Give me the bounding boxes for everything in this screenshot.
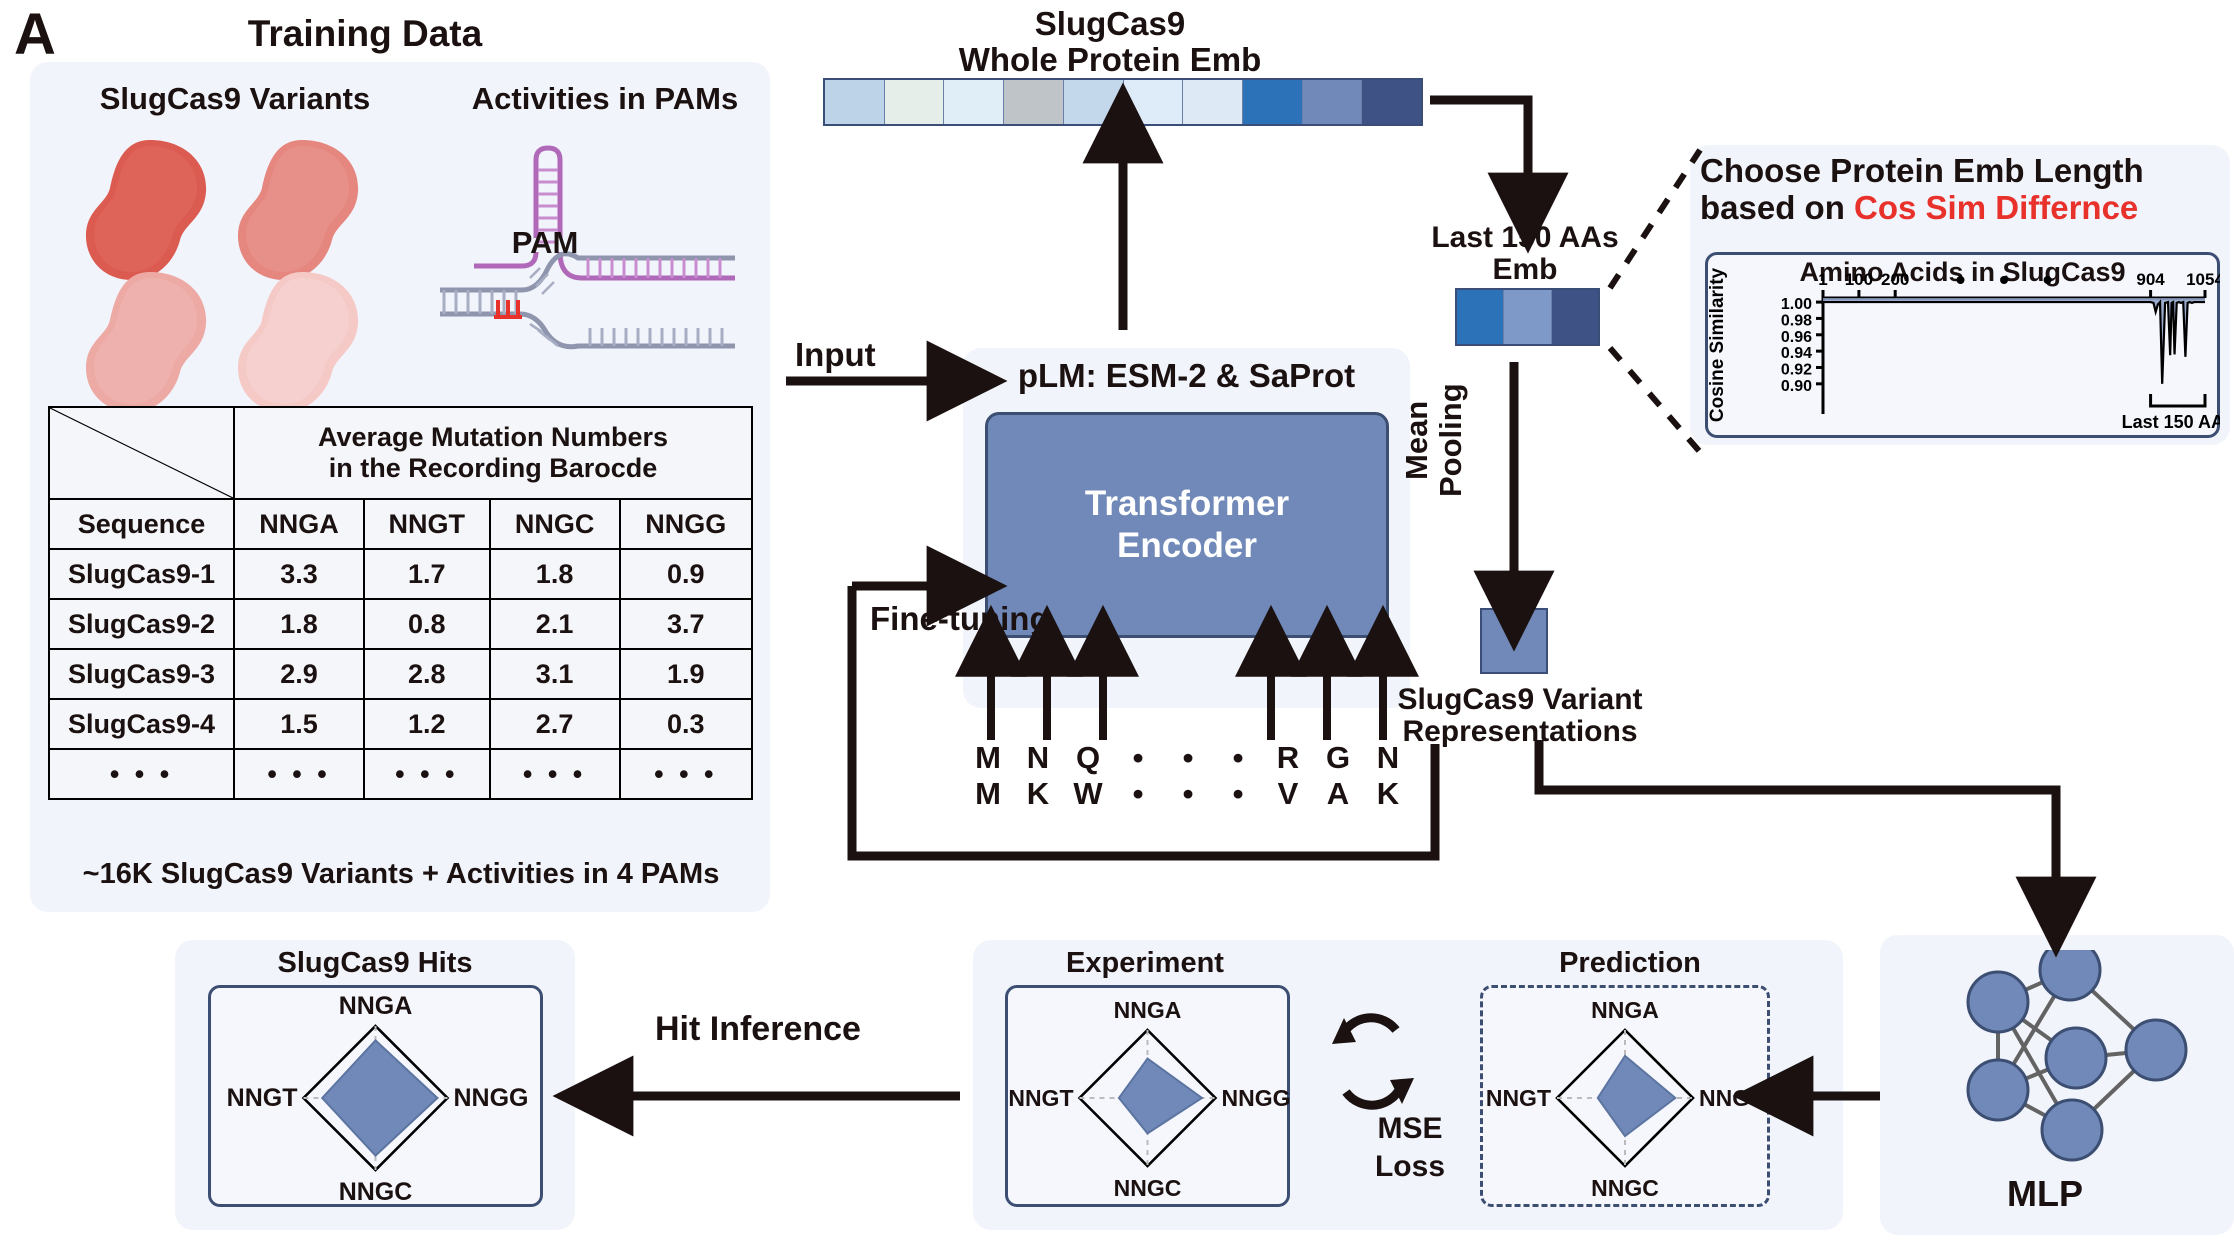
bracket-label: Last 150 AAs	[2122, 412, 2220, 432]
radar-axis-label: NNGG	[1222, 1085, 1291, 1111]
training-data-caption: ~16K SlugCas9 Variants + Activities in 4…	[36, 858, 766, 891]
cell-value: 3.1	[490, 649, 620, 699]
slugcas9-variants-title: SlugCas9 Variants	[50, 82, 420, 115]
aa-token: N	[1013, 740, 1063, 776]
y-tick-label: 0.96	[1781, 329, 1812, 346]
aa-token: G	[1313, 740, 1363, 776]
cell-value: 1.7	[364, 549, 489, 599]
mean-pooling-line2: Pooling	[1433, 383, 1468, 497]
encoder-label-line1: Transformer	[1085, 484, 1289, 523]
x-tick-label: 100	[1845, 270, 1873, 289]
arrow-rep-to-mlp	[1539, 740, 2056, 900]
radar-axis-label: NNGC	[1114, 1175, 1182, 1201]
mse-loss-label: MSE Loss	[1355, 1110, 1465, 1185]
cell-value: 1.8	[234, 599, 364, 649]
x-tick-label: 1054	[2186, 270, 2220, 289]
training-data-table: Average Mutation Numbers in the Recordin…	[48, 406, 753, 800]
encoder-label-line2: Encoder	[1117, 526, 1257, 565]
var-rep-line1: SlugCas9 Variant	[1397, 683, 1642, 716]
radar-axis-label: NNGT	[227, 1084, 298, 1112]
x-tick-label: 200	[1881, 270, 1909, 289]
radar-data-polygon	[322, 1040, 437, 1155]
last150-bracket	[2151, 394, 2205, 406]
chart-line	[1823, 302, 2205, 384]
radar-axis-label: NNGG	[454, 1084, 529, 1112]
cell-ellipsis: • • •	[490, 749, 620, 799]
training-data-title: Training Data	[130, 14, 600, 54]
embedding-cell	[1243, 80, 1303, 124]
cell-value: 1.2	[364, 699, 489, 749]
arrow-emb-to-last150	[1430, 100, 1528, 196]
column-header-nngg: NNGG	[620, 499, 752, 549]
emb-title-line2: Whole Protein Emb	[959, 41, 1262, 78]
mlp-label: MLP	[1880, 1175, 2210, 1214]
hits-radar-chart: NNGANNGGNNGCNNGT	[208, 985, 543, 1207]
y-tick-label: 0.90	[1781, 378, 1812, 395]
cos-head-line2-red: Cos Sim Differnce	[1854, 189, 2138, 226]
hit-inference-label: Hit Inference	[655, 1010, 861, 1049]
var-rep-line2: Representations	[1402, 715, 1637, 748]
cell-ellipsis: • • •	[234, 749, 364, 799]
embedding-cell	[944, 80, 1004, 124]
aa-token: •	[1113, 740, 1163, 776]
span-header-line2: in the Recording Barocde	[329, 453, 658, 483]
plm-title: pLM: ESM-2 & SaProt	[963, 358, 1410, 394]
prediction-radar-chart: NNGANNGGNNGCNNGT	[1480, 985, 1770, 1207]
cell-ellipsis: • • •	[364, 749, 489, 799]
radar-axis-label: NNGC	[339, 1178, 413, 1206]
aa-token: R	[1263, 740, 1313, 776]
aa-token: K	[1013, 776, 1063, 812]
radar-axis-label: NNGA	[1591, 997, 1659, 1023]
x-tick-ellipsis-dot	[2000, 276, 2008, 284]
input-label: Input	[795, 336, 876, 374]
aa-row-top: M N Q • • • R G N	[963, 740, 1413, 776]
embedding-cell	[1362, 80, 1421, 124]
aa-token: M	[963, 776, 1013, 812]
table-row: SlugCas9-2 1.8 0.8 2.1 3.7	[49, 599, 752, 649]
l150-title-line1: Last 150 AAs	[1431, 221, 1618, 254]
radar-axis-label: NNGA	[339, 992, 413, 1020]
cell-ellipsis: • • •	[49, 749, 234, 799]
table-row: SlugCas9-3 2.9 2.8 3.1 1.9	[49, 649, 752, 699]
y-tick-label: 0.92	[1781, 361, 1812, 378]
protein-blob-icon	[80, 136, 220, 284]
mse-cycle-arrows-icon	[1318, 1010, 1428, 1115]
cell-value: 3.3	[234, 549, 364, 599]
embedding-cell	[1457, 290, 1504, 344]
embedding-cell	[825, 80, 885, 124]
aa-token: M	[963, 740, 1013, 776]
aa-token: •	[1213, 740, 1263, 776]
span-header-line1: Average Mutation Numbers	[318, 422, 668, 452]
cell-value: 0.8	[364, 599, 489, 649]
table-header-row: Average Mutation Numbers in the Recordin…	[49, 407, 752, 499]
embedding-cell	[1552, 290, 1598, 344]
mlp-network-diagram	[1960, 950, 2210, 1165]
activities-in-pams-title: Activities in PAMs	[440, 82, 770, 115]
fine-tuning-label: Fine-tuning	[870, 600, 1050, 638]
aa-token: A	[1313, 776, 1363, 812]
column-header-nnga: NNGA	[234, 499, 364, 549]
radar-axis-label: NNGA	[1114, 997, 1182, 1023]
cell-value: 1.9	[620, 649, 752, 699]
slugcas9-variant-representations-label: SlugCas9 Variant Representations	[1380, 684, 1660, 749]
x-tick-ellipsis-dot	[1956, 276, 1964, 284]
y-tick-label: 0.98	[1781, 312, 1812, 329]
aa-row-bottom: M K W • • • V A K	[963, 776, 1413, 812]
cell-value: 2.9	[234, 649, 364, 699]
radar-axis-label: NNGT	[1008, 1085, 1073, 1111]
table-row: SlugCas9-4 1.5 1.2 2.7 0.3	[49, 699, 752, 749]
cell-ellipsis: • • •	[620, 749, 752, 799]
cell-sequence: SlugCas9-4	[49, 699, 234, 749]
pam-label: PAM	[480, 225, 610, 261]
callout-line-bottom	[1610, 348, 1700, 452]
cell-value: 1.8	[490, 549, 620, 599]
cell-value: 0.3	[620, 699, 752, 749]
cell-value: 2.1	[490, 599, 620, 649]
experiment-title: Experiment	[1000, 948, 1290, 979]
mean-pooling-label: Mean Pooling	[1400, 360, 1460, 520]
aa-token: •	[1213, 776, 1263, 812]
y-tick-label: 1.00	[1781, 296, 1812, 313]
aa-token: K	[1363, 776, 1413, 812]
emb-title-line1: SlugCas9	[1035, 5, 1185, 42]
panel-letter: A	[14, 4, 56, 67]
x-tick-label: 904	[2136, 270, 2165, 289]
table-row: SlugCas9-1 3.3 1.7 1.8 0.9	[49, 549, 752, 599]
column-header-nngt: NNGT	[364, 499, 489, 549]
radar-axis-label: NNGG	[1699, 1085, 1768, 1111]
last-150-aas-emb-title: Last 150 AAs Emb	[1410, 222, 1640, 287]
mean-pooling-line1: Mean	[1399, 400, 1434, 479]
cell-sequence: SlugCas9-1	[49, 549, 234, 599]
table-corner-cell	[49, 407, 234, 499]
whole-protein-emb-title: SlugCas9 Whole Protein Emb	[880, 6, 1340, 77]
radar-axis-label: NNGT	[1486, 1085, 1551, 1111]
cos-head-line1: Choose Protein Emb Length	[1700, 152, 2144, 189]
table-span-header: Average Mutation Numbers in the Recordin…	[234, 407, 752, 499]
aa-token: W	[1063, 776, 1113, 812]
protein-blob-icon	[232, 268, 372, 416]
radar-data-polygon	[1119, 1059, 1202, 1134]
prediction-title: Prediction	[1485, 948, 1775, 979]
embedding-cell	[1124, 80, 1184, 124]
cell-sequence: SlugCas9-3	[49, 649, 234, 699]
protein-blob-icon	[80, 268, 220, 416]
cell-value: 2.8	[364, 649, 489, 699]
y-axis-label: Cosine Similarity	[1707, 267, 1728, 422]
embedding-cell	[1064, 80, 1124, 124]
chart-plot-area: 1.000.980.960.940.920.9011002009041054Co…	[1705, 252, 2220, 438]
mse-line1: MSE	[1377, 1112, 1442, 1145]
column-header-nngc: NNGC	[490, 499, 620, 549]
protein-blob-icon	[232, 136, 372, 284]
experiment-radar-chart: NNGANNGGNNGCNNGT	[1005, 985, 1290, 1207]
aa-token: •	[1163, 776, 1213, 812]
cos-head-line2-plain: based on	[1700, 189, 1854, 226]
aa-token: V	[1263, 776, 1313, 812]
aa-token: •	[1163, 740, 1213, 776]
cell-value: 0.9	[620, 549, 752, 599]
cell-value: 2.7	[490, 699, 620, 749]
aa-token: •	[1113, 776, 1163, 812]
embedding-cell	[885, 80, 945, 124]
variant-representation-square	[1480, 608, 1548, 674]
slugcas9-hits-title: SlugCas9 Hits	[175, 948, 575, 979]
amino-acid-sequence: M N Q • • • R G N M K W • • • V A K	[963, 740, 1413, 812]
last-150-aas-embedding-bar	[1455, 288, 1600, 346]
table-row-ellipsis: • • • • • • • • • • • • • • •	[49, 749, 752, 799]
embedding-cell	[1004, 80, 1064, 124]
y-tick-label: 0.94	[1781, 345, 1812, 362]
table-column-header-row: Sequence NNGA NNGT NNGC NNGG	[49, 499, 752, 549]
cell-value: 3.7	[620, 599, 752, 649]
embedding-cell	[1504, 290, 1551, 344]
cell-value: 1.5	[234, 699, 364, 749]
embedding-cell	[1183, 80, 1243, 124]
x-tick-ellipsis-dot	[2044, 276, 2052, 284]
column-header-sequence: Sequence	[49, 499, 234, 549]
radar-axis-label: NNGC	[1591, 1175, 1659, 1201]
whole-protein-embedding-bar	[823, 78, 1423, 126]
aa-token: Q	[1063, 740, 1113, 776]
cell-sequence: SlugCas9-2	[49, 599, 234, 649]
chart-area-fill	[1823, 298, 2205, 384]
cos-sim-heading: Choose Protein Emb Length based on Cos S…	[1700, 152, 2230, 227]
embedding-cell	[1303, 80, 1363, 124]
l150-title-line2: Emb	[1492, 253, 1557, 286]
x-tick-label: 1	[1818, 270, 1827, 289]
mse-line2: Loss	[1375, 1150, 1445, 1183]
